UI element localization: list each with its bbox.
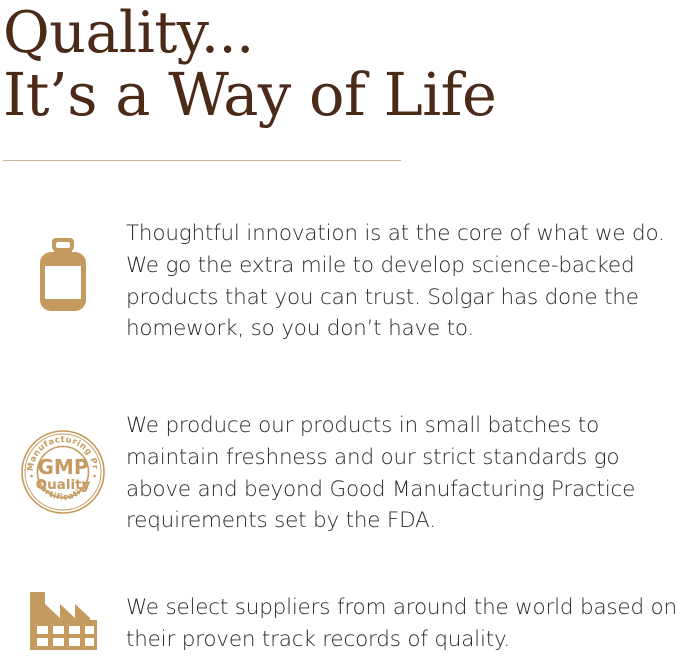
page-title: Quality... It’s a Way of Life — [3, 2, 663, 126]
icon-cell-factory — [0, 592, 126, 650]
horizontal-rule-divider — [3, 160, 401, 161]
seal-center-quality: Quality — [36, 477, 91, 493]
feature-row-innovation: Thoughtful innovation is at the core of … — [0, 218, 679, 345]
factory-icon — [28, 592, 99, 650]
quality-promo-panel: Quality... It’s a Way of Life — [0, 0, 679, 663]
page-title-line-2: It’s a Way of Life — [3, 64, 663, 126]
supplement-bottle-icon — [39, 238, 87, 312]
feature-paragraph-innovation: Thoughtful innovation is at the core of … — [126, 218, 677, 345]
feature-row-suppliers: We select suppliers from around the worl… — [0, 592, 679, 656]
page-title-line-1: Quality... — [3, 2, 663, 64]
feature-row-manufacturing: Good Manufacturing Practice Certificatio… — [0, 410, 679, 537]
text-cell-innovation: Thoughtful innovation is at the core of … — [126, 218, 679, 345]
icon-cell-bottle — [0, 218, 126, 312]
text-cell-suppliers: We select suppliers from around the worl… — [126, 592, 679, 656]
feature-paragraph-suppliers: We select suppliers from around the worl… — [126, 592, 677, 656]
feature-paragraph-manufacturing: We produce our products in small batches… — [126, 410, 677, 537]
gmp-quality-seal-icon: Good Manufacturing Practice Certificatio… — [21, 430, 105, 514]
icon-cell-gmp-seal: Good Manufacturing Practice Certificatio… — [0, 410, 126, 514]
seal-center-gmp: GMP — [38, 455, 89, 479]
text-cell-manufacturing: We produce our products in small batches… — [126, 410, 679, 537]
